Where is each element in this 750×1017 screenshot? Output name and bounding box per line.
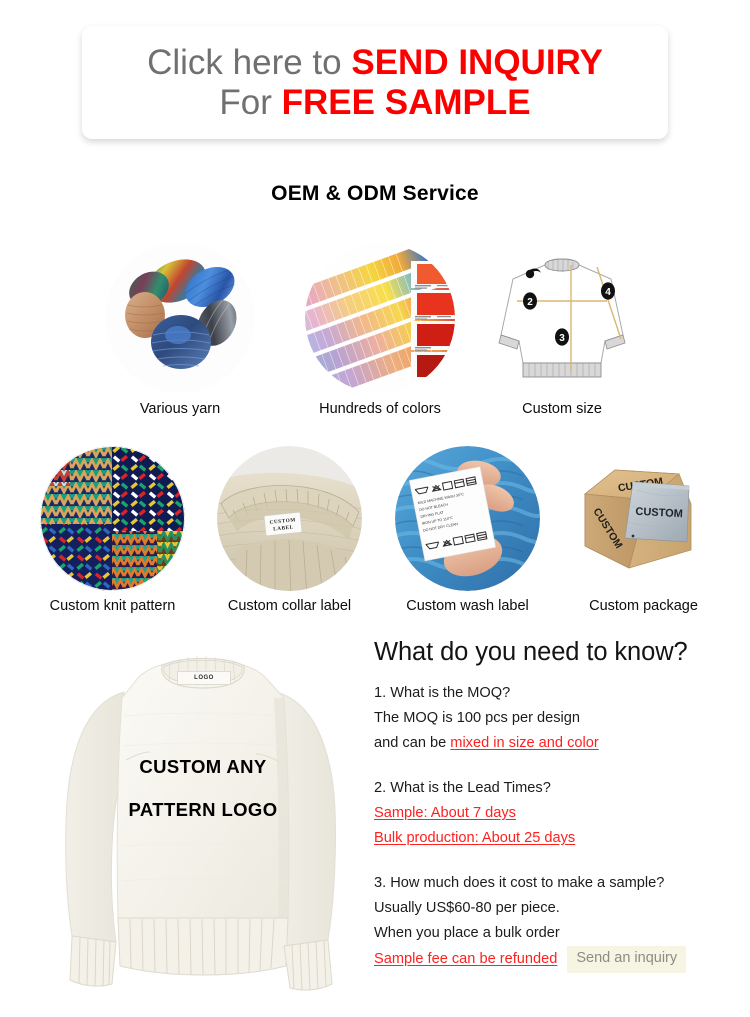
feature-various-yarn: Various yarn	[105, 243, 255, 417]
collar-label-icon: CUSTOM LABEL	[217, 446, 362, 591]
feature-custom-collar-label: CUSTOM LABEL Custom collar label	[212, 446, 367, 614]
faq-answer-3-highlight: Sample fee can be refunded	[374, 947, 557, 972]
knit-pattern-icon	[40, 446, 185, 591]
sweater-measurement-diagram-icon: 2 3 4	[487, 243, 637, 393]
svg-text:CUSTOM: CUSTOM	[635, 506, 683, 520]
faq-answer-2-line-2: Bulk production: About 25 days	[374, 826, 746, 851]
wash-label-icon: MILD MACHINE WASH 30°C DO NOT BLEACH DRY…	[395, 446, 540, 591]
faq-answer-3-line-1: Usually US$60-80 per piece.	[374, 896, 746, 921]
feature-caption: Custom collar label	[212, 598, 367, 614]
custom-sweater-mockup: LOGO CUSTOM ANY PATTERN LOGO	[38, 636, 368, 1014]
faq-answer-1-line-2: and can be mixed in size and color	[374, 731, 746, 756]
faq-answer-2-line-1: Sample: About 7 days	[374, 801, 746, 826]
faq-title: What do you need to know?	[374, 638, 746, 667]
banner-line-2-prefix: For	[219, 83, 281, 122]
package-box-icon: CUSTOM CUSTOM CUSTOM	[571, 446, 716, 591]
feature-caption: Custom knit pattern	[35, 598, 190, 614]
faq-question-1: 1. What is the MOQ?	[374, 681, 746, 706]
feature-caption: Custom package	[566, 598, 721, 614]
send-inquiry-button[interactable]: Send an inquiry	[567, 946, 686, 973]
svg-text:3: 3	[559, 333, 565, 344]
banner-line-1-prefix: Click here to	[147, 43, 351, 82]
faq-answer-3-line-3-row: Sample fee can be refunded Send an inqui…	[374, 946, 746, 973]
banner-line-1: Click here to SEND INQUIRY	[147, 43, 603, 83]
faq-spacer	[374, 756, 746, 776]
faq-spacer	[374, 851, 746, 871]
banner-line-2: For FREE SAMPLE	[219, 83, 530, 123]
feature-custom-knit-pattern: Custom knit pattern	[35, 446, 190, 614]
feature-custom-wash-label: MILD MACHINE WASH 30°C DO NOT BLEACH DRY…	[390, 446, 545, 614]
feature-custom-size: 2 3 4 Custom size	[487, 243, 637, 417]
sweater-text-line-1: CUSTOM ANY	[38, 756, 368, 778]
faq-question-2: 2. What is the Lead Times?	[374, 776, 746, 801]
section-heading: OEM & ODM Service	[0, 182, 750, 206]
svg-text:2: 2	[527, 297, 533, 308]
faq-answer-1-highlight: mixed in size and color	[450, 735, 598, 751]
banner-line-1-emphasis: SEND INQUIRY	[351, 43, 603, 82]
feature-hundreds-of-colors: Hundreds of colors	[300, 243, 460, 417]
faq-answer-3-line-2: When you place a bulk order	[374, 921, 746, 946]
faq-question-3: 3. How much does it cost to make a sampl…	[374, 871, 746, 896]
yarn-balls-icon	[105, 243, 255, 393]
svg-text:4: 4	[605, 287, 611, 298]
feature-caption: Custom size	[487, 401, 637, 417]
feature-caption: Hundreds of colors	[300, 401, 460, 417]
sweater-collar-logo: LOGO	[177, 671, 231, 685]
sweater-text-line-2: PATTERN LOGO	[38, 799, 368, 821]
color-swatch-fan-icon	[305, 243, 455, 393]
feature-caption: Custom wash label	[390, 598, 545, 614]
banner-line-2-emphasis: FREE SAMPLE	[282, 83, 531, 122]
feature-custom-package: CUSTOM CUSTOM CUSTOM Custom package	[566, 446, 721, 614]
send-inquiry-banner[interactable]: Click here to SEND INQUIRY For FREE SAMP…	[82, 26, 668, 139]
faq-panel: What do you need to know? 1. What is the…	[374, 638, 746, 973]
faq-answer-1-prefix: and can be	[374, 735, 450, 751]
faq-answer-2-bulk: Bulk production: About 25 days	[374, 830, 575, 846]
faq-answer-1-line-1: The MOQ is 100 pcs per design	[374, 706, 746, 731]
faq-answer-2-sample: Sample: About 7 days	[374, 805, 516, 821]
feature-caption: Various yarn	[105, 401, 255, 417]
